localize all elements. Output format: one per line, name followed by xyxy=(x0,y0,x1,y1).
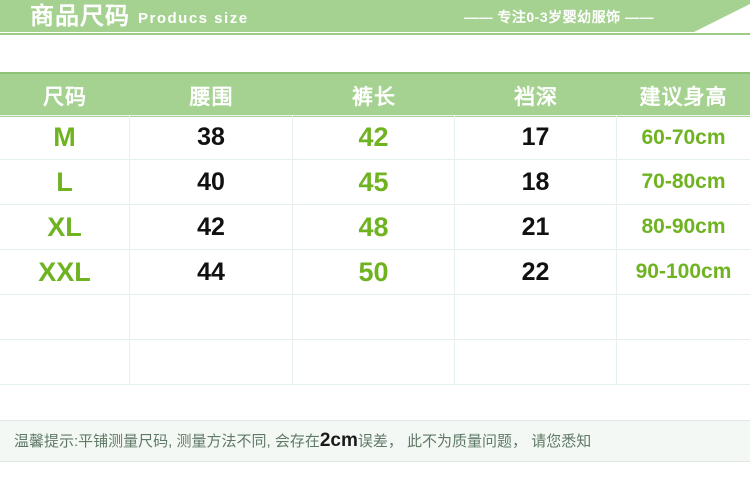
cell-size: M xyxy=(53,122,76,153)
cell-pant-length: 50 xyxy=(358,257,388,288)
size-chart-page: 商品尺码 Producs size —— 专注0-3岁婴幼服饰 —— 尺码 腰围… xyxy=(0,0,750,500)
cell-crotch-depth: 18 xyxy=(522,168,550,197)
table-row-empty xyxy=(0,340,750,385)
footer-note-emphasis: 2cm xyxy=(320,430,358,451)
brand-slogan: —— 专注0-3岁婴幼服饰 —— xyxy=(464,5,654,29)
table-row-xxl: XXL 44 50 22 90-100cm xyxy=(0,250,750,295)
table-row-m: M 38 42 17 60-70cm xyxy=(0,115,750,160)
footer-note: 温馨提示:平铺测量尺码, 测量方法不同, 会存在2cm误差， 此不为质量问题， … xyxy=(0,420,750,462)
cell-waist: 42 xyxy=(197,213,225,242)
cell-waist: 44 xyxy=(197,258,225,287)
cell-pant-length: 48 xyxy=(358,212,388,243)
column-header-crotch-depth: 裆深 xyxy=(455,81,617,111)
header-banner: 商品尺码 Producs size —— 专注0-3岁婴幼服饰 —— xyxy=(0,0,750,32)
table-header-row: 尺码 腰围 裤长 裆深 建议身高 xyxy=(0,72,750,117)
page-subtitle: Producs size xyxy=(138,8,249,30)
footer-note-text: 温馨提示:平铺测量尺码, 测量方法不同, 会存在2cm误差， 此不为质量问题， … xyxy=(0,431,591,452)
table-body: M 38 42 17 60-70cm L 40 45 18 70-80cm XL… xyxy=(0,115,750,415)
column-header-height: 建议身高 xyxy=(617,81,750,111)
cell-crotch-depth: 21 xyxy=(522,213,550,242)
header-divider xyxy=(0,33,750,35)
page-title: 商品尺码 xyxy=(30,2,130,32)
column-header-waist: 腰围 xyxy=(130,81,293,111)
cell-height: 60-70cm xyxy=(641,126,725,150)
table-row-xl: XL 42 48 21 80-90cm xyxy=(0,205,750,250)
table-row-l: L 40 45 18 70-80cm xyxy=(0,160,750,205)
table-row-empty xyxy=(0,295,750,340)
cell-size: L xyxy=(56,167,73,198)
cell-pant-length: 45 xyxy=(358,167,388,198)
cell-height: 90-100cm xyxy=(636,260,732,284)
cell-waist: 40 xyxy=(197,168,225,197)
footer-note-suffix: 误差， 此不为质量问题， 请您悉知 xyxy=(358,433,591,450)
footer-note-prefix: 温馨提示:平铺测量尺码, 测量方法不同, 会存在 xyxy=(14,433,320,450)
column-header-size: 尺码 xyxy=(0,81,130,111)
cell-pant-length: 42 xyxy=(358,122,388,153)
column-header-pant-length: 裤长 xyxy=(293,81,455,111)
cell-crotch-depth: 22 xyxy=(522,258,550,287)
cell-height: 70-80cm xyxy=(641,170,725,194)
cell-size: XXL xyxy=(38,257,91,288)
cell-crotch-depth: 17 xyxy=(522,123,550,152)
cell-height: 80-90cm xyxy=(641,215,725,239)
cell-waist: 38 xyxy=(197,123,225,152)
cell-size: XL xyxy=(47,212,82,243)
